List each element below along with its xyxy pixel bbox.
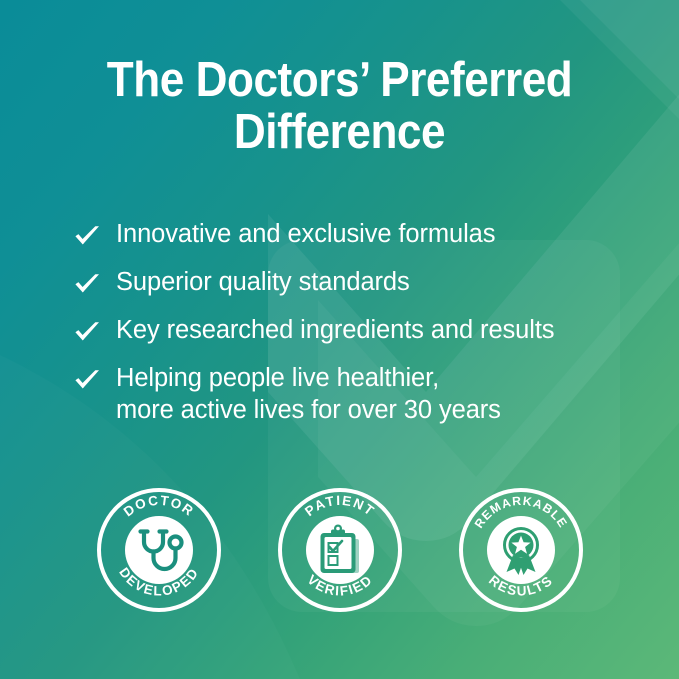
badge-doctor-developed: DOCTOR DEVELOPED [96, 487, 222, 613]
list-item-label: Key researched ingredients and results [116, 314, 554, 346]
list-item: Innovative and exclusive formulas [72, 218, 652, 251]
benefits-list: Innovative and exclusive formulas Superi… [72, 218, 652, 442]
list-item-label: Superior quality standards [116, 266, 410, 298]
title-line-2: Difference [75, 108, 603, 156]
title-line-1: The Doctors’ Preferred [75, 56, 603, 104]
trust-badges: DOCTOR DEVELOPED [0, 487, 679, 613]
list-item-label: Helping people live healthier, more acti… [116, 362, 501, 427]
page-title: The Doctors’ Preferred Difference [0, 56, 679, 156]
list-item: Key researched ingredients and results [72, 314, 652, 347]
badge-remarkable-results: REMARKABLE RESULTS [458, 487, 584, 613]
check-icon [72, 317, 102, 347]
infographic-panel: The Doctors’ Preferred Difference Innova… [0, 0, 679, 679]
check-icon [72, 365, 102, 395]
badge-patient-verified: PATIENT VERIFIED [277, 487, 403, 613]
check-icon [72, 269, 102, 299]
list-item: Superior quality standards [72, 266, 652, 299]
check-icon [72, 221, 102, 251]
list-item-label: Innovative and exclusive formulas [116, 218, 495, 250]
list-item: Helping people live healthier, more acti… [72, 362, 652, 427]
